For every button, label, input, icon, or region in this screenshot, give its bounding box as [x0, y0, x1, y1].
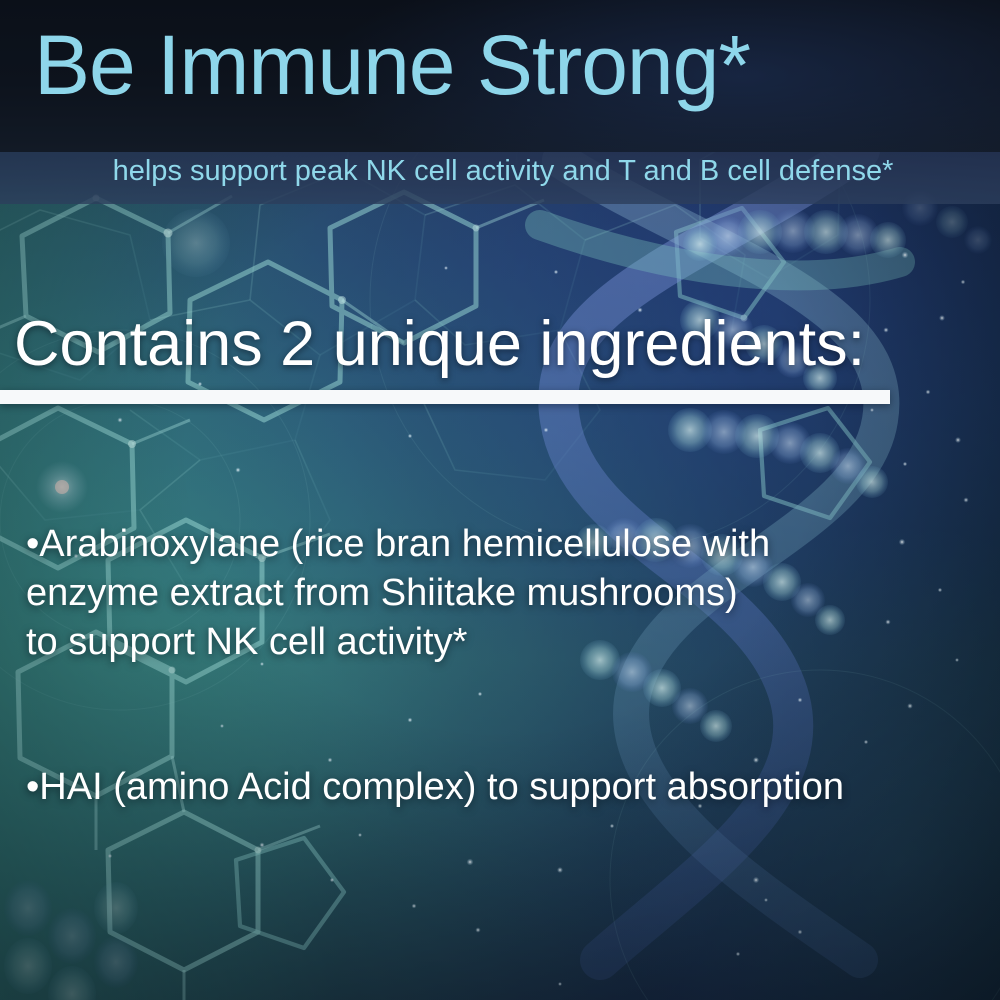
product-infographic: Be Immune Strong* helps support peak NK …: [0, 0, 1000, 1000]
section-heading: Contains 2 unique ingredients:: [14, 313, 865, 376]
page-title: Be Immune Strong*: [34, 23, 750, 107]
ingredient-item-arabinoxylane: •Arabinoxylane (rice bran hemicellulose …: [26, 520, 770, 667]
page-subtitle: helps support peak NK cell activity and …: [33, 157, 973, 186]
ingredient-item-hai: •HAI (amino Acid complex) to support abs…: [26, 763, 844, 812]
heading-underline-rule: [0, 390, 890, 404]
